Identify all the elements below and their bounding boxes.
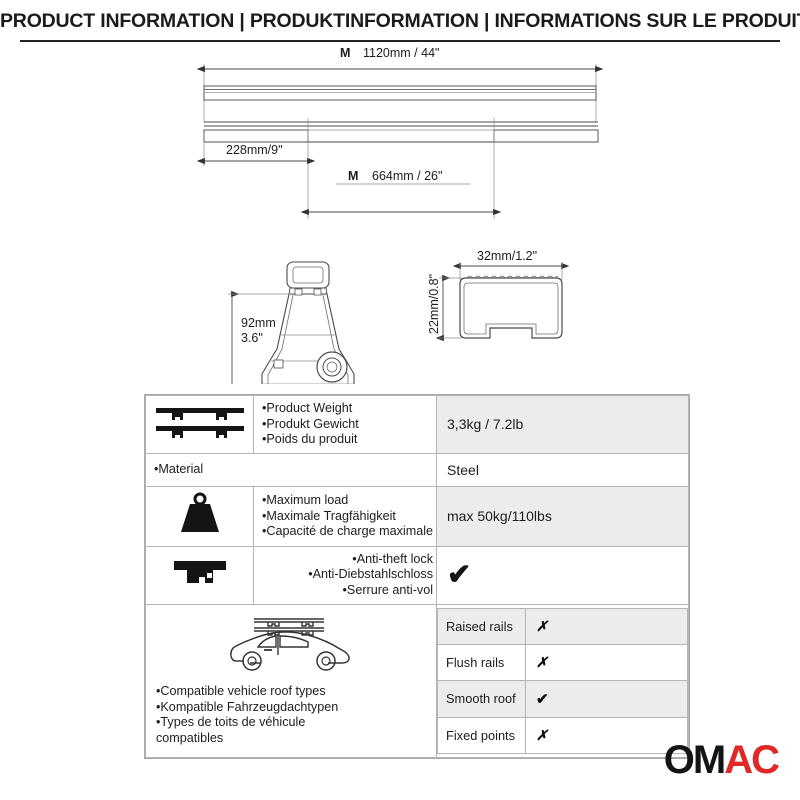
compatibility-labels: •Compatible vehicle roof types •Kompatib… [150, 684, 432, 747]
dim-foot-height-line2: 3.6" [241, 331, 263, 345]
dim-profile-height-value: 22mm/0.8" [427, 274, 441, 334]
label-line: •Poids du produit [262, 432, 433, 448]
check-mark: ✔ [447, 559, 471, 591]
antitheft-value: ✔ [437, 546, 689, 604]
dim-profile-width-value: 32mm/1.2" [477, 249, 537, 263]
material-labels: •Material [146, 453, 437, 486]
crossbars-icon-cell [146, 396, 254, 454]
compat-name: Fixed points [438, 717, 526, 753]
lock-icon [169, 555, 231, 591]
label-line: compatibles [156, 731, 432, 747]
label-line: •Types de toits de véhicule [156, 715, 432, 731]
table-row: •Compatible vehicle roof types •Kompatib… [146, 604, 689, 757]
car-with-roofrack-icon [216, 611, 366, 673]
max-load-value: max 50kg/110lbs [437, 486, 689, 546]
compat-mark: ✗ [526, 608, 688, 644]
max-load-labels: •Maximum load •Maximale Tragfähigkeit •C… [254, 486, 437, 546]
dim-span-value: 664mm / 26" [372, 169, 442, 183]
label-line: •Material [154, 462, 433, 478]
product-weight-value: 3,3kg / 7.2lb [437, 396, 689, 454]
label-line: •Kompatible Fahrzeugdachtypen [156, 700, 432, 716]
compat-row-fixed-points: Fixed points ✗ [438, 717, 688, 753]
compatibility-description-cell: •Compatible vehicle roof types •Kompatib… [146, 604, 437, 757]
dim-overall-marker: M [340, 46, 350, 60]
label-line: •Produkt Gewicht [262, 417, 433, 433]
compat-mark: ✔ [526, 680, 688, 717]
table-row: •Material Steel [146, 453, 689, 486]
technical-drawing: M 1120mm / 44" 228mm/9" M 664mm / 26" [0, 44, 800, 384]
compatibility-subtable: Raised rails ✗ Flush rails ✗ [437, 608, 688, 754]
table-row: •Product Weight •Produkt Gewicht •Poids … [146, 396, 689, 454]
label-line: •Capacité de charge maximale [262, 524, 433, 540]
logo-text-red: AC [724, 738, 778, 782]
label-line: •Product Weight [262, 401, 433, 417]
table-row: •Anti-theft lock •Anti-Diebstahlschloss … [146, 546, 689, 604]
dim-overall-value: 1120mm / 44" [363, 46, 439, 60]
cross-icon: ✗ [536, 618, 548, 634]
header-divider [20, 40, 780, 42]
table-row: •Maximum load •Maximale Tragfähigkeit •C… [146, 486, 689, 546]
omac-logo: OMAC [664, 740, 778, 780]
compat-name: Raised rails [438, 608, 526, 644]
weight-icon [173, 491, 227, 537]
label-line: •Maximale Tragfähigkeit [262, 509, 433, 525]
label-line: •Maximum load [262, 493, 433, 509]
compat-row-smooth-roof: Smooth roof ✔ [438, 680, 688, 717]
product-information-sheet: PRODUCT INFORMATION | PRODUKTINFORMATION… [0, 0, 800, 800]
compat-name: Flush rails [438, 644, 526, 680]
compat-name: Smooth roof [438, 680, 526, 717]
dim-foot-height-line1: 92mm [241, 316, 276, 330]
dim-end-offset-value: 228mm/9" [226, 143, 283, 157]
label-line: •Anti-theft lock [257, 552, 433, 568]
label-line: •Compatible vehicle roof types [156, 684, 432, 700]
crossbars-icon [152, 402, 248, 442]
compatibility-options-cell: Raised rails ✗ Flush rails ✗ [437, 604, 689, 757]
logo-text-black: OM [664, 738, 724, 782]
check-icon: ✔ [536, 691, 549, 708]
specification-table: •Product Weight •Produkt Gewicht •Poids … [144, 394, 690, 759]
lock-icon-cell [146, 546, 254, 604]
cross-icon: ✗ [536, 727, 548, 743]
label-line: •Serrure anti-vol [257, 583, 433, 599]
compat-row-raised-rails: Raised rails ✗ [438, 608, 688, 644]
antitheft-labels: •Anti-theft lock •Anti-Diebstahlschloss … [254, 546, 437, 604]
product-weight-labels: •Product Weight •Produkt Gewicht •Poids … [254, 396, 437, 454]
label-line: •Anti-Diebstahlschloss [257, 567, 433, 583]
dim-span-marker: M [348, 169, 358, 183]
cross-icon: ✗ [536, 654, 548, 670]
page-title: PRODUCT INFORMATION | PRODUKTINFORMATION… [0, 10, 800, 33]
compat-mark: ✗ [526, 644, 688, 680]
weight-icon-cell [146, 486, 254, 546]
material-value: Steel [437, 453, 689, 486]
compat-row-flush-rails: Flush rails ✗ [438, 644, 688, 680]
